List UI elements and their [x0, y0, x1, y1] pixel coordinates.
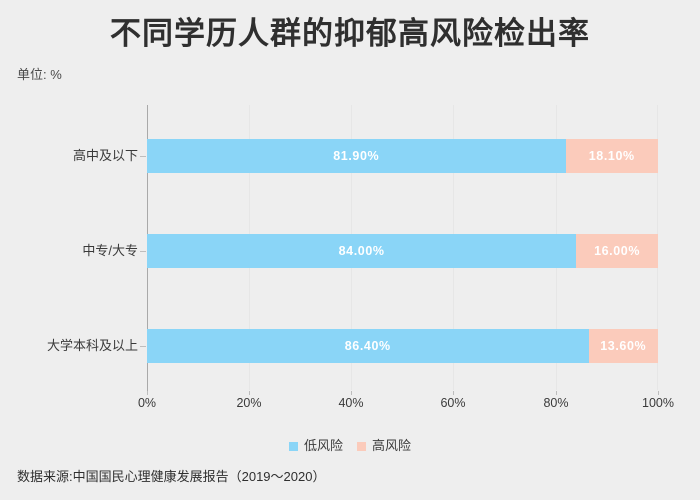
x-tick-mark	[147, 391, 148, 395]
bar-value-high-1: 16.00%	[594, 244, 640, 258]
chart-source-note: 数据来源:中国国民心理健康发展报告（2019～2020）	[17, 468, 325, 486]
category-label-1: 中专/大专	[82, 234, 138, 268]
bar-row-1: 84.00% 16.00%	[147, 234, 658, 268]
bar-segment-low-0[interactable]: 81.90%	[147, 139, 566, 173]
bar-segment-low-1[interactable]: 84.00%	[147, 234, 576, 268]
bar-row-2: 86.40% 13.60%	[147, 329, 658, 363]
legend-item-low-risk[interactable]: 低风险	[289, 438, 343, 454]
bar-segment-high-0[interactable]: 18.10%	[566, 139, 659, 173]
x-tick-label-2: 40%	[338, 396, 363, 410]
x-tick-mark	[351, 391, 352, 395]
x-tick-mark	[249, 391, 250, 395]
chart-legend: 低风险 高风险	[0, 438, 700, 454]
bar-segment-low-2[interactable]: 86.40%	[147, 329, 589, 363]
bar-value-high-0: 18.10%	[589, 149, 635, 163]
chart-title: 不同学历人群的抑郁高风险检出率	[0, 14, 700, 54]
legend-swatch-icon	[357, 442, 366, 451]
x-tick-label-3: 60%	[440, 396, 465, 410]
x-tick-label-5: 100%	[642, 396, 674, 410]
bar-value-low-1: 84.00%	[339, 244, 385, 258]
y-tick-mark	[140, 346, 146, 347]
chart-container: 不同学历人群的抑郁高风险检出率 单位: % 高中及以下 81.90% 18.10…	[0, 0, 700, 500]
chart-unit-note: 单位: %	[17, 66, 62, 84]
y-tick-mark	[140, 156, 146, 157]
y-tick-mark	[140, 251, 146, 252]
legend-swatch-icon	[289, 442, 298, 451]
category-label-2: 大学本科及以上	[47, 329, 138, 363]
bar-segment-high-1[interactable]: 16.00%	[576, 234, 658, 268]
bar-row-0: 81.90% 18.10%	[147, 139, 658, 173]
bar-value-low-2: 86.40%	[345, 339, 391, 353]
x-tick-label-0: 0%	[138, 396, 156, 410]
legend-label-high-risk: 高风险	[372, 438, 411, 454]
x-tick-mark	[658, 391, 659, 395]
bar-segment-high-2[interactable]: 13.60%	[589, 329, 659, 363]
x-tick-mark	[556, 391, 557, 395]
x-tick-mark	[453, 391, 454, 395]
x-tick-label-4: 80%	[543, 396, 568, 410]
bar-value-high-2: 13.60%	[600, 339, 646, 353]
legend-item-high-risk[interactable]: 高风险	[357, 438, 411, 454]
category-label-0: 高中及以下	[73, 139, 138, 173]
bar-value-low-0: 81.90%	[333, 149, 379, 163]
x-tick-label-1: 20%	[236, 396, 261, 410]
legend-label-low-risk: 低风险	[304, 438, 343, 454]
